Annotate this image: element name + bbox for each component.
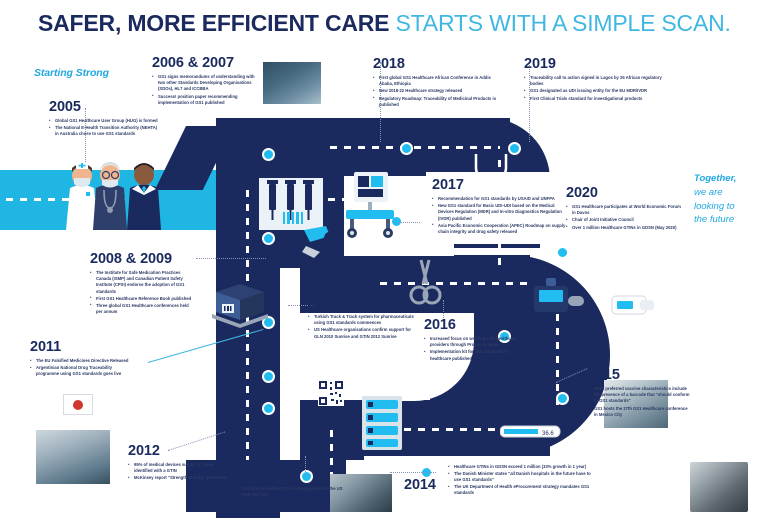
bullet-list: 95% of medical devices supply in Japan i… [128, 462, 232, 481]
road-dash-five-midbar [380, 282, 530, 285]
together-line2: looking to [694, 201, 735, 212]
road-node-2020[interactable] [556, 246, 569, 259]
bullet: Implementation kit for UDI standards in … [424, 349, 528, 361]
bullet: Chair of Joint Initiative Council [566, 217, 682, 223]
timeline-entry-2011: 2011 The EU Falsified Medicines Directiv… [30, 340, 130, 379]
year-label: 2006 & 2007 [152, 56, 260, 71]
year-label: 2019 [524, 57, 664, 72]
bullet-list: GS1 Healthcare participates at World Eco… [566, 204, 682, 230]
title-dark-part: SAFER, MORE EFFICIENT CARE [38, 10, 389, 36]
bullet: Global GS1 Healthcare User Group (HUG) i… [49, 118, 159, 124]
bullet-list: WHO preferred vaccine characteristics in… [588, 386, 692, 417]
timeline-entry-2006-2007: 2006 & 2007 GS1 signs memorandums of und… [152, 56, 260, 107]
qr-code-icon [318, 380, 344, 406]
bullet: Recommendation for GS1 standards by USAI… [432, 196, 570, 202]
bullet: GS1 signs memorandums of understanding w… [152, 74, 260, 92]
timeline-entry-2013: 2013 GS1 first accredited UDI issuing ag… [236, 468, 344, 499]
infographic-canvas: SAFER, MORE EFFICIENT CARE STARTS WITH A… [0, 0, 768, 512]
bullet: The UK Department of Health eProcurement… [448, 484, 598, 496]
road-node-2018[interactable] [400, 142, 413, 155]
bullet: First GS1 Healthcare Reference Book publ… [90, 296, 196, 302]
bullet: The EU Falsified Medicines Directive Rel… [30, 358, 130, 364]
year-label: 2017 [432, 178, 570, 193]
timeline-entry-2012: 2012 95% of medical devices supply in Ja… [128, 444, 232, 483]
healthcare-workers-illustration [60, 158, 170, 230]
pallet-box-icon [208, 282, 270, 330]
year-label: 2018 [373, 57, 501, 72]
year-label: 2012 [128, 444, 232, 459]
bullet-list: GS1 first accredited UDI issuing agency … [236, 486, 344, 498]
timeline-entry-2008-2009: 2008 & 2009 The Institute for Safe Medic… [90, 252, 196, 316]
year-label: 2013 [236, 468, 344, 483]
svg-text:36.6: 36.6 [542, 431, 554, 437]
together-line1: we are [694, 187, 723, 198]
year-label: 2010 [308, 296, 414, 311]
bullet: GS1 designated as UDI issuing entity for… [524, 88, 664, 94]
bullet: GS1 first accredited UDI issuing agency … [236, 486, 344, 498]
timeline-entry-2020: 2020 GS1 Healthcare participates at Worl… [566, 186, 682, 232]
bullet: The Institute for Safe Medication Practi… [90, 270, 196, 294]
together-line3: the future [694, 214, 734, 225]
medical-device-icon [530, 276, 588, 322]
bullet: Argentinian National Drug Traceability p… [30, 365, 130, 377]
timeline-entry-2010: 2010 Turkish Track & Track system for ph… [308, 296, 414, 341]
bullet: Traceability call to action signed in La… [524, 75, 664, 87]
bullet: Three global GS1 Healthcare conferences … [90, 303, 196, 315]
year-label: 2020 [566, 186, 682, 201]
japan-flag-circle [73, 400, 83, 410]
bullet: First global GS1 Healthcare African Conf… [373, 75, 501, 87]
bullet: Over 1 million Healthcare GTINs in GDSN … [566, 225, 682, 231]
year-label: 2011 [30, 340, 130, 355]
thermometer-icon: 36.6 [500, 420, 566, 442]
timeline-entry-2019: 2019 Traceability call to action signed … [524, 57, 664, 103]
bullet: New GS1 standard for Basic UDI-UDI based… [432, 203, 570, 221]
bullet-list: Healthcare GTINs in GDSN exceed 1 millio… [448, 464, 598, 496]
bullet: Increased focus on working with healthca… [424, 336, 528, 348]
timeline-entry-2014: 2014 [404, 478, 434, 496]
monitor-cart-icon [340, 172, 402, 238]
road-node-2010[interactable] [262, 370, 275, 383]
bullet: The Danish Minister states "all Danish h… [448, 471, 598, 483]
bullet: Turkish Track & Track system for pharmac… [308, 314, 414, 326]
together-bold: Together, [694, 173, 736, 184]
connector-2008 [196, 258, 266, 259]
bullet: Asia Pacific Economic Cooperation (APEC)… [432, 223, 570, 235]
title-cyan-part: STARTS WITH A SIMPLE SCAN. [396, 10, 731, 36]
bullet-list: GS1 signs memorandums of understanding w… [152, 74, 260, 105]
bullet: GS1 hosts the 27th GS1 Healthcare confer… [588, 406, 692, 418]
road-dash-five-topbar [330, 146, 500, 149]
bullet-list: Traceability call to action signed in La… [524, 75, 664, 101]
timeline-entry-2015: 2015 WHO preferred vaccine characteristi… [588, 368, 692, 419]
bullet-list: Increased focus on working with healthca… [424, 336, 528, 361]
road-node-2015[interactable] [556, 392, 569, 405]
page-title: SAFER, MORE EFFICIENT CARE STARTS WITH A… [38, 10, 738, 37]
photo-lab-instruments [36, 430, 110, 484]
road-node-2008[interactable] [262, 232, 275, 245]
year-label: 2016 [424, 318, 528, 333]
bullet-list: The Institute for Safe Medication Practi… [90, 270, 196, 315]
year-label: 2014 [404, 478, 434, 493]
timeline-entry-2017: 2017 Recommendation for GS1 standards by… [426, 172, 576, 244]
bullet: GS1 Healthcare participates at World Eco… [566, 204, 682, 216]
timeline-entry-2016: 2016 Increased focus on working with hea… [424, 318, 528, 363]
timeline-entry-2005: 2005 Global GS1 Healthcare User Group (H… [49, 100, 159, 139]
bullet: New 2018-22 Healthcare strategy released [373, 88, 501, 94]
year-label: 2008 & 2009 [90, 252, 196, 267]
japan-flag-icon [63, 394, 93, 415]
bullet: The National E-Health Transition Authori… [49, 125, 159, 137]
bullet: Success! position paper recommending imp… [152, 94, 260, 106]
timeline-entry-2014-bullets: Healthcare GTINs in GDSN exceed 1 millio… [448, 464, 598, 497]
bullet-list: Recommendation for GS1 standards by USAI… [432, 196, 570, 235]
road-node-2006[interactable] [262, 148, 275, 161]
bullet-list: Global GS1 Healthcare User Group (HUG) i… [49, 118, 159, 137]
bullet: McKinsey report "Strength in Unity" publ… [128, 475, 232, 481]
year-label: 2015 [588, 368, 692, 383]
pill-rack-icon [360, 392, 404, 454]
bullet: First Clinical Trials standard for inves… [524, 96, 664, 102]
timeline-entry-2018: 2018 First global GS1 Healthcare African… [373, 57, 501, 109]
bullet: US Healthcare organisations confirm supp… [308, 327, 414, 339]
together-label: Together, we are looking to the future [694, 172, 766, 227]
bullet: Regulatory Roadmap: Traceability of Medi… [373, 96, 501, 108]
bullet-list: The EU Falsified Medicines Directive Rel… [30, 358, 130, 377]
bullet: 95% of medical devices supply in Japan i… [128, 462, 232, 474]
year-label: 2005 [49, 100, 159, 115]
starting-strong-label: Starting Strong [34, 67, 109, 79]
bullet-list: First global GS1 Healthcare African Conf… [373, 75, 501, 107]
scan-device-icon [610, 288, 656, 322]
road-node-2012[interactable] [262, 402, 275, 415]
photo-surgery [263, 62, 321, 104]
bullet: Healthcare GTINs in GDSN exceed 1 millio… [448, 464, 598, 470]
bullet: WHO preferred vaccine characteristics in… [588, 386, 692, 404]
photo-equipment-wheel [690, 462, 748, 512]
bullet-list: Turkish Track & Track system for pharmac… [308, 314, 414, 339]
connector-2014 [390, 472, 436, 473]
